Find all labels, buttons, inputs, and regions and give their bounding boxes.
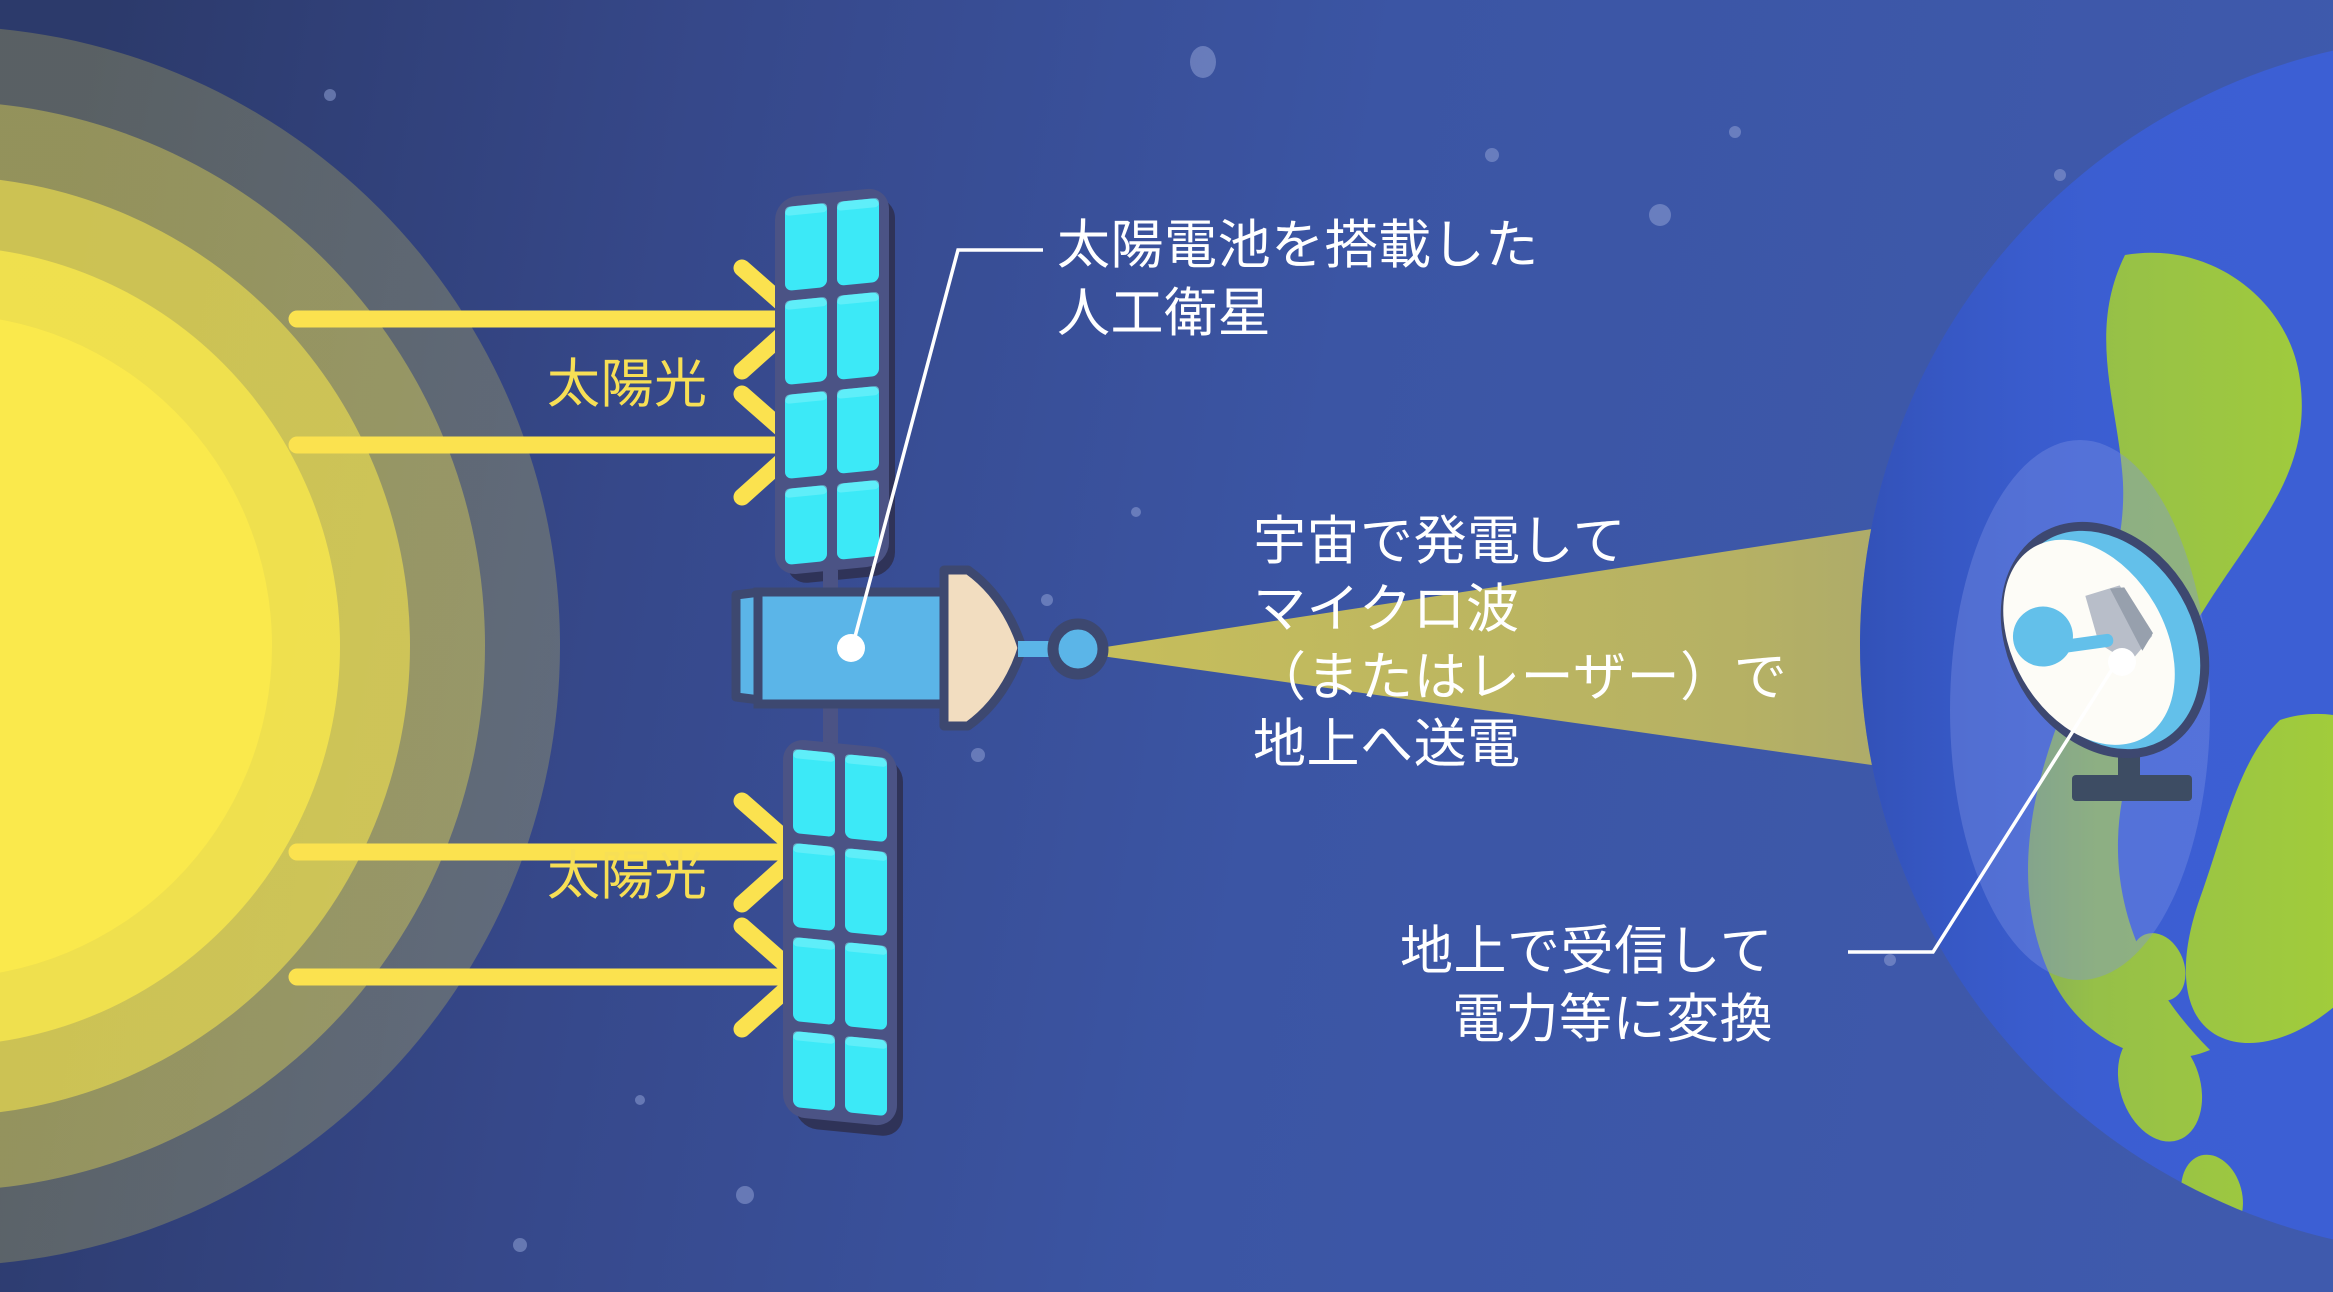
leader-anchor-receiver [2108,648,2136,676]
leader-anchor-satellite [837,634,865,662]
space-solar-power-illustration [0,0,2333,1292]
satellite-emitter [1053,624,1103,674]
diagram-canvas: 太陽電池を搭載した 人工衛星 宇宙で発電して マイクロ波 （またはレーザー）で … [0,0,2333,1292]
solar-panel-bottom [783,700,903,1138]
